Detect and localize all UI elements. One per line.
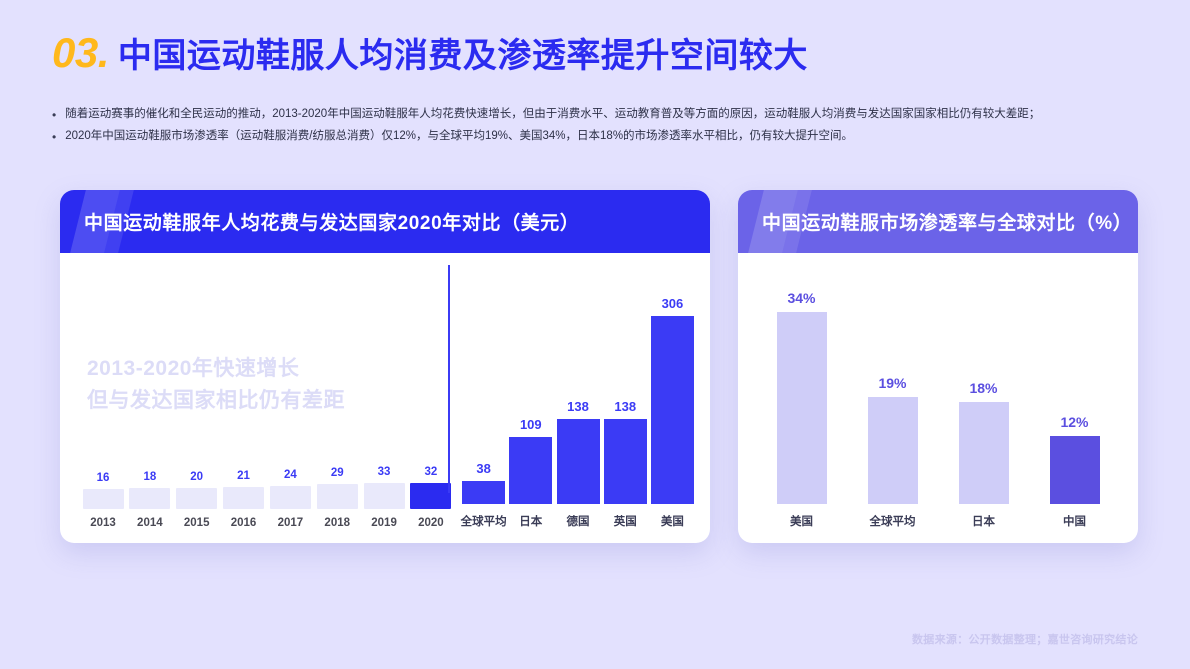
bar-category-label: 2017 <box>278 517 304 529</box>
chart-y-axis-line <box>448 265 450 493</box>
bar <box>462 481 505 504</box>
bar <box>129 488 170 509</box>
bar-value-label: 18% <box>969 380 997 396</box>
card-body: 2013-2020年快速增长 但与发达国家相比仍有差距 162013182014… <box>60 253 710 543</box>
bar <box>83 489 124 509</box>
chart-penetration-bars: 34%美国19%全球平均18%日本12%中国 <box>756 271 1120 529</box>
page-title-text: 中国运动鞋服人均消费及渗透率提升空间较大 <box>118 28 808 77</box>
source-note: 数据来源：公开数据整理；嘉世咨询研究结论 <box>912 631 1138 647</box>
list-item: • 2020年中国运动鞋服市场渗透率（运动鞋服消费/纺服总消费）仅12%，与全球… <box>52 128 1152 146</box>
bar-value-label: 16 <box>97 472 110 484</box>
penetration-bar-group: 34%美国 <box>766 271 838 529</box>
bar-value-label: 138 <box>614 399 636 414</box>
bar-value-label: 19% <box>878 375 906 391</box>
card-title: 中国运动鞋服年人均花费与发达国家2020年对比（美元） <box>84 190 579 253</box>
bar <box>868 397 918 504</box>
bar-value-label: 306 <box>662 296 684 311</box>
bar-category-label: 英国 <box>614 513 637 529</box>
bar-category-label: 2020 <box>418 517 444 529</box>
bar-value-label: 38 <box>476 461 490 476</box>
bar-category-label: 2013 <box>90 517 116 529</box>
bar-category-label: 2018 <box>324 517 350 529</box>
bar-category-label: 2019 <box>371 517 397 529</box>
country-bar-group: 109日本 <box>507 279 554 529</box>
bar <box>410 483 451 509</box>
bar-value-label: 20 <box>190 471 203 483</box>
bar-category-label: 全球平均 <box>870 513 916 529</box>
year-bar-group: 322020 <box>410 466 452 529</box>
card-header: 中国运动鞋服年人均花费与发达国家2020年对比（美元） <box>60 190 710 253</box>
bar-category-label: 2016 <box>231 517 257 529</box>
bullet-text: 2020年中国运动鞋服市场渗透率（运动鞋服消费/纺服总消费）仅12%，与全球平均… <box>65 128 853 146</box>
bullet-text: 随着运动赛事的催化和全民运动的推动，2013-2020年中国运动鞋服年人均花费快… <box>65 106 1040 124</box>
bar-value-label: 34% <box>787 290 815 306</box>
bar <box>959 402 1009 504</box>
year-bar-group: 212016 <box>223 470 265 529</box>
bar <box>557 419 600 504</box>
penetration-bar-group: 18%日本 <box>948 271 1020 529</box>
bar-value-label: 21 <box>237 470 250 482</box>
bullet-dot-icon: • <box>52 106 56 124</box>
card-market-penetration: 中国运动鞋服市场渗透率与全球对比（%） 34%美国19%全球平均18%日本12%… <box>738 190 1138 543</box>
country-bar-group: 138德国 <box>554 279 601 529</box>
bar-value-label: 18 <box>143 471 156 483</box>
bar <box>176 488 217 509</box>
bar-category-label: 美国 <box>790 513 813 529</box>
bar-category-label: 日本 <box>972 513 995 529</box>
country-bar-group: 38全球平均 <box>460 279 507 529</box>
year-bar-group: 242017 <box>269 469 311 529</box>
bar <box>364 483 405 509</box>
bullet-list: • 随着运动赛事的催化和全民运动的推动，2013-2020年中国运动鞋服年人均花… <box>52 106 1152 150</box>
bar-value-label: 24 <box>284 469 297 481</box>
bar-category-label: 全球平均 <box>461 513 507 529</box>
chart-year-bars: 1620131820142020152120162420172920183320… <box>82 466 452 529</box>
country-bar-group: 138英国 <box>602 279 649 529</box>
bar-value-label: 32 <box>425 466 438 478</box>
bar <box>270 486 311 509</box>
chart-annotation-line2: 但与发达国家相比仍有差距 <box>87 385 345 417</box>
bar-category-label: 日本 <box>519 513 542 529</box>
list-item: • 随着运动赛事的催化和全民运动的推动，2013-2020年中国运动鞋服年人均花… <box>52 106 1152 124</box>
bar-category-label: 2015 <box>184 517 210 529</box>
year-bar-group: 162013 <box>82 472 124 529</box>
year-bar-group: 182014 <box>129 471 171 529</box>
year-bar-group: 332019 <box>363 466 405 529</box>
card-per-capita-spending: 中国运动鞋服年人均花费与发达国家2020年对比（美元） 2013-2020年快速… <box>60 190 710 543</box>
bar <box>604 419 647 504</box>
bar-value-label: 12% <box>1060 414 1088 430</box>
card-body: 34%美国19%全球平均18%日本12%中国 <box>738 253 1138 543</box>
card-header: 中国运动鞋服市场渗透率与全球对比（%） <box>738 190 1138 253</box>
bar <box>1050 436 1100 504</box>
bar <box>223 487 264 509</box>
page-title-number: 03. <box>52 29 109 77</box>
chart-country-bars: 38全球平均109日本138德国138英国306美国 <box>460 279 696 529</box>
bar-value-label: 138 <box>567 399 589 414</box>
bar-category-label: 2014 <box>137 517 163 529</box>
bar-category-label: 美国 <box>661 513 684 529</box>
card-title: 中国运动鞋服市场渗透率与全球对比（%） <box>762 190 1132 253</box>
bar <box>317 484 358 509</box>
bar-value-label: 109 <box>520 417 542 432</box>
page-title: 03. 中国运动鞋服人均消费及渗透率提升空间较大 <box>52 28 808 77</box>
bar <box>509 437 552 504</box>
country-bar-group: 306美国 <box>649 279 696 529</box>
year-bar-group: 202015 <box>176 471 218 529</box>
chart-annotation-line1: 2013-2020年快速增长 <box>87 353 345 385</box>
bar <box>777 312 827 504</box>
bar-category-label: 德国 <box>567 513 590 529</box>
bar-category-label: 中国 <box>1063 513 1086 529</box>
penetration-bar-group: 19%全球平均 <box>857 271 929 529</box>
bar-value-label: 29 <box>331 467 344 479</box>
bullet-dot-icon: • <box>52 128 56 146</box>
chart-annotation: 2013-2020年快速增长 但与发达国家相比仍有差距 <box>87 353 345 416</box>
penetration-bar-group: 12%中国 <box>1039 271 1111 529</box>
bar <box>651 316 694 504</box>
bar-value-label: 33 <box>378 466 391 478</box>
year-bar-group: 292018 <box>316 467 358 529</box>
